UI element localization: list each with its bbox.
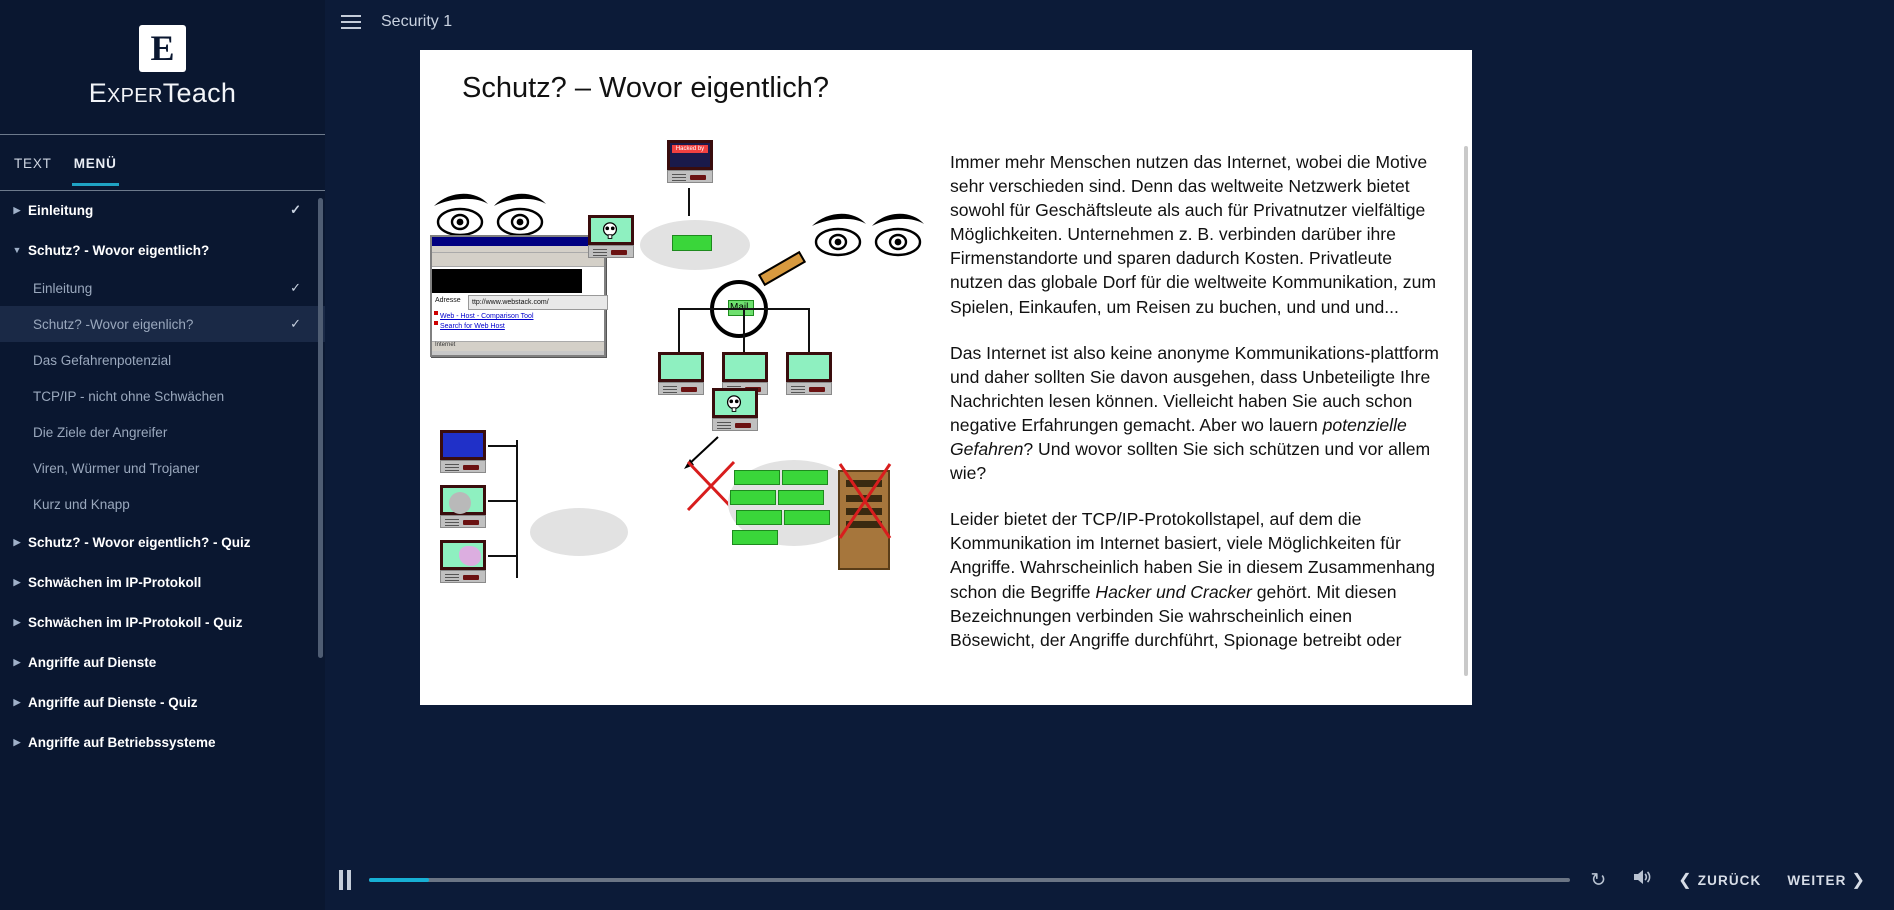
main-content: Security 1 Schutz? – Wovor eigentlich? <box>325 0 1894 910</box>
sidebar-subitem-schutz-wovor-eigenlich[interactable]: Schutz? -Wovor eigenlich? ✓ <box>0 306 325 342</box>
back-button[interactable]: ❮ ZURÜCK <box>1672 870 1767 890</box>
brand-name-e: E <box>89 78 107 108</box>
sidebar-item-angriffe-dienste-quiz[interactable]: ▶ Angriffe auf Dienste - Quiz <box>0 682 325 722</box>
chevron-right-icon: ▶ <box>10 657 24 668</box>
sidebar-item-label: Angriffe auf Dienste - Quiz <box>28 695 198 710</box>
monitor-blue <box>440 430 486 473</box>
browser-statusbar: Internet <box>432 341 604 351</box>
data-block-1 <box>672 235 712 251</box>
sidebar-item-schutz-wovor[interactable]: ▼ Schutz? - Wovor eigentlich? <box>0 230 325 270</box>
wire <box>488 445 518 447</box>
sidebar-scrollbar[interactable] <box>318 198 323 658</box>
monitor-virus-2 <box>440 540 486 583</box>
sidebar-subitem-viren-wuermer-trojaner[interactable]: Viren, Würmer und Trojaner <box>0 450 325 486</box>
chevron-right-icon: ❯ <box>1851 870 1866 890</box>
slide-title: Schutz? – Wovor eigentlich? <box>462 72 829 105</box>
wire <box>516 440 518 578</box>
browser-address-label: Adresse <box>435 297 461 304</box>
next-label: WEITER <box>1787 873 1846 888</box>
browser-titlebar <box>432 237 604 246</box>
chevron-right-icon: ▶ <box>10 577 24 588</box>
server-blocked-cross-icon <box>834 458 896 548</box>
browser-toolbar <box>432 253 604 267</box>
sidebar-item-label: Einleitung <box>33 281 92 296</box>
brand-logo: E EXPERTeach <box>0 0 325 134</box>
sidebar-subitem-ziele-der-angreifer[interactable]: Die Ziele der Angreifer <box>0 414 325 450</box>
player-controls: ↻ ❮ ZURÜCK WEITER ❯ <box>325 850 1894 910</box>
volume-icon[interactable] <box>1626 868 1658 892</box>
sidebar-item-einleitung[interactable]: ▶ Einleitung ✓ <box>0 190 325 230</box>
progress-fill <box>369 878 429 882</box>
sidebar-item-label: Das Gefahrenpotenzial <box>33 353 171 368</box>
chevron-right-icon: ▶ <box>10 697 24 708</box>
wire <box>688 188 690 216</box>
wire <box>488 555 518 557</box>
chevron-right-icon: ▶ <box>10 617 24 628</box>
sidebar-item-angriffe-betriebssysteme[interactable]: ▶ Angriffe auf Betriebssysteme <box>0 722 325 762</box>
spying-eyes-left-icon <box>430 188 550 240</box>
sidebar-subitem-kurz-und-knapp[interactable]: Kurz und Knapp <box>0 486 325 522</box>
browser-menubar <box>432 246 604 253</box>
monitor-client-1 <box>658 352 704 395</box>
topbar: Security 1 <box>325 0 1894 44</box>
slide-paragraph-3-text: Leider bietet der TCP/IP-Protokollstapel… <box>950 509 1435 649</box>
sidebar-item-schutz-wovor-quiz[interactable]: ▶ Schutz? - Wovor eigentlich? - Quiz <box>0 522 325 562</box>
slide-body-text: Immer mehr Menschen nutzen das Internet,… <box>950 150 1440 674</box>
check-icon: ✓ <box>290 316 301 332</box>
sidebar-item-label: Schwächen im IP-Protokoll - Quiz <box>28 615 243 630</box>
sidebar-item-schwaechen-ip[interactable]: ▶ Schwächen im IP-Protokoll <box>0 562 325 602</box>
sidebar: E EXPERTeach TEXT MENÜ ▶ Einleitung ✓ ▼ … <box>0 0 325 910</box>
hamburger-icon[interactable] <box>341 15 361 29</box>
wire <box>808 308 810 356</box>
monitor-infected-1 <box>588 215 634 258</box>
slide-paragraph-2-text: Das Internet ist also keine anonyme Komm… <box>950 343 1439 483</box>
wire <box>743 308 745 356</box>
monitor-client-3 <box>786 352 832 395</box>
monitor-virus-1 <box>440 485 486 528</box>
sidebar-item-label: Schutz? - Wovor eigentlich? <box>28 243 209 258</box>
sidebar-item-label: Schwächen im IP-Protokoll <box>28 575 201 590</box>
tab-menu[interactable]: MENÜ <box>72 140 119 186</box>
check-icon: ✓ <box>290 280 301 296</box>
sidebar-nav: ▶ Einleitung ✓ ▼ Schutz? - Wovor eigentl… <box>0 190 325 910</box>
tab-text[interactable]: TEXT <box>12 140 54 186</box>
brand-name: EXPERTeach <box>89 78 237 109</box>
slide-paragraph-1: Immer mehr Menschen nutzen das Internet,… <box>950 150 1440 319</box>
sidebar-item-label: TCP/IP - nicht ohne Schwächen <box>33 389 224 404</box>
browser-link-2: Search for Web Host <box>440 323 505 330</box>
brand-name-teach: Teach <box>163 78 237 108</box>
chevron-right-icon: ▶ <box>10 737 24 748</box>
back-label: ZURÜCK <box>1698 873 1762 888</box>
sidebar-tabs: TEXT MENÜ <box>0 135 325 190</box>
replay-icon[interactable]: ↻ <box>1584 869 1612 892</box>
experteach-logo-icon: E <box>139 25 186 72</box>
wire <box>488 500 518 502</box>
browser-window-graphic: ttp://www.webstack.com/ Adresse Web - Ho… <box>430 235 606 357</box>
slide-scrollbar[interactable] <box>1464 146 1468 676</box>
browser-link-1: Web - Host - Comparison Tool <box>440 313 534 320</box>
spying-eyes-right-icon <box>808 208 928 260</box>
browser-url-text: ttp://www.webstack.com/ <box>468 295 608 310</box>
chevron-left-icon: ❮ <box>1678 870 1693 890</box>
sidebar-item-label: Die Ziele der Angreifer <box>33 425 167 440</box>
wire <box>678 308 680 356</box>
next-button[interactable]: WEITER ❯ <box>1781 870 1872 890</box>
sidebar-item-label: Schutz? - Wovor eigentlich? - Quiz <box>28 535 251 550</box>
emphasis-text: potenzielle Gefahren <box>950 415 1407 459</box>
cloud-network-2 <box>530 508 628 556</box>
slide-paragraph-3: Leider bietet der TCP/IP-Protokollstapel… <box>950 507 1440 652</box>
sidebar-subitem-tcpip-schwaechen[interactable]: TCP/IP - nicht ohne Schwächen <box>0 378 325 414</box>
chevron-right-icon: ▶ <box>10 205 24 216</box>
progress-bar[interactable] <box>369 878 1570 882</box>
sidebar-subitem-einleitung[interactable]: Einleitung ✓ <box>0 270 325 306</box>
sidebar-subitem-gefahrenpotenzial[interactable]: Das Gefahrenpotenzial <box>0 342 325 378</box>
browser-canvas: ttp://www.webstack.com/ Adresse Web - Ho… <box>432 267 604 341</box>
monitor-attacker <box>712 388 758 431</box>
slide-stage: Schutz? – Wovor eigentlich? <box>420 50 1472 705</box>
sidebar-item-label: Angriffe auf Betriebssysteme <box>28 735 216 750</box>
pause-button[interactable] <box>339 870 355 890</box>
sidebar-item-schwaechen-ip-quiz[interactable]: ▶ Schwächen im IP-Protokoll - Quiz <box>0 602 325 642</box>
chevron-right-icon: ▶ <box>10 537 24 548</box>
slide-illustration: ttp://www.webstack.com/ Adresse Web - Ho… <box>430 140 940 690</box>
chevron-down-icon: ▼ <box>10 245 24 255</box>
sidebar-item-label: Einleitung <box>28 203 93 218</box>
sidebar-item-label: Viren, Würmer und Trojaner <box>33 461 199 476</box>
emphasis-text: Hacker und Cracker <box>1095 582 1251 602</box>
sidebar-item-label: Angriffe auf Dienste <box>28 655 156 670</box>
sidebar-item-label: Schutz? -Wovor eigenlich? <box>33 317 193 332</box>
sidebar-item-label: Kurz und Knapp <box>33 497 130 512</box>
brand-name-xper: XPER <box>107 85 163 107</box>
app-root: E EXPERTeach TEXT MENÜ ▶ Einleitung ✓ ▼ … <box>0 0 1894 910</box>
course-title: Security 1 <box>381 13 452 31</box>
check-icon: ✓ <box>290 202 301 218</box>
sidebar-item-angriffe-dienste[interactable]: ▶ Angriffe auf Dienste <box>0 642 325 682</box>
monitor-hacked-by: Hacked by <box>667 140 713 183</box>
hacked-by-label: Hacked by <box>672 145 708 153</box>
slide-paragraph-2: Das Internet ist also keine anonyme Komm… <box>950 341 1440 486</box>
